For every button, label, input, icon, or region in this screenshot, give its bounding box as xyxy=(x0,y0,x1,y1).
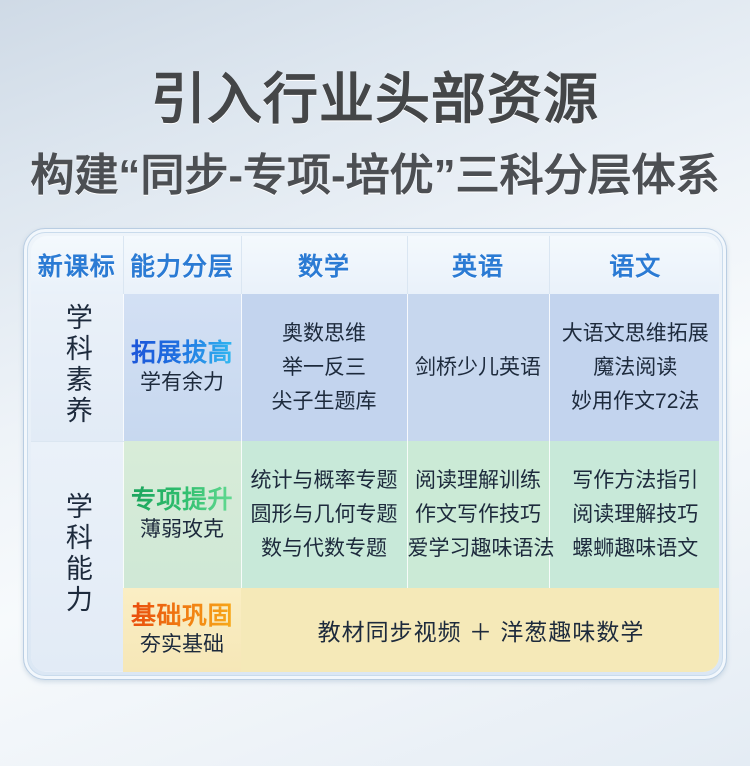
cell-chinese-targeted: 写作方法指引 阅读理解技巧 螺蛳趣味语文 xyxy=(549,441,719,588)
column-header-english: 英语 xyxy=(407,236,549,294)
column-header-chinese: 语文 xyxy=(549,236,719,294)
cell-line: 妙用作文72法 xyxy=(550,385,720,419)
column-header-tier: 能力分层 xyxy=(123,236,241,294)
column-header-math: 数学 xyxy=(241,236,407,294)
cell-line: 统计与概率专题 xyxy=(242,464,407,498)
tier-cell-targeted: 专项提升 薄弱攻克 xyxy=(123,441,241,588)
cell-foundation-merged: 教材同步视频 ＋ 洋葱趣味数学 xyxy=(241,588,719,672)
tier-subtitle-advanced: 学有余力 xyxy=(124,370,241,396)
table-row: 学科能力 专项提升 薄弱攻克 统计与概率专题 圆形与几何专题 数与代数专题 阅读… xyxy=(31,441,719,588)
cell-line: 举一反三 xyxy=(242,351,407,385)
cell-line: 写作方法指引 xyxy=(550,464,720,498)
row-label-ability-text: 学科能力 xyxy=(63,492,91,616)
curriculum-panel-inner: 新课标 能力分层 数学 英语 语文 学科素养 拓展拔高 学有余力 奥数思维 举一… xyxy=(31,236,719,672)
column-header-standard: 新课标 xyxy=(31,236,123,294)
table-row: 基础巩固 夯实基础 教材同步视频 ＋ 洋葱趣味数学 xyxy=(31,588,719,672)
curriculum-panel: 新课标 能力分层 数学 英语 语文 学科素养 拓展拔高 学有余力 奥数思维 举一… xyxy=(23,228,727,680)
cell-line: 尖子生题库 xyxy=(242,385,407,419)
cell-line: 爱学习趣味语法 xyxy=(408,532,549,566)
cell-line: 螺蛳趣味语文 xyxy=(550,532,720,566)
cell-line: 魔法阅读 xyxy=(550,351,720,385)
tier-subtitle-targeted: 薄弱攻克 xyxy=(124,517,241,543)
row-label-literacy-text: 学科素养 xyxy=(63,303,91,427)
tier-cell-advanced: 拓展拔高 学有余力 xyxy=(123,294,241,441)
cell-math-targeted: 统计与概率专题 圆形与几何专题 数与代数专题 xyxy=(241,441,407,588)
table-row: 学科素养 拓展拔高 学有余力 奥数思维 举一反三 尖子生题库 剑桥少儿英语 大语… xyxy=(31,294,719,441)
cell-chinese-advanced: 大语文思维拓展 魔法阅读 妙用作文72法 xyxy=(549,294,719,441)
cell-line: 阅读理解训练 xyxy=(408,464,549,498)
cell-english-targeted: 阅读理解训练 作文写作技巧 爱学习趣味语法 xyxy=(407,441,549,588)
cell-math-advanced: 奥数思维 举一反三 尖子生题库 xyxy=(241,294,407,441)
cell-line: 圆形与几何专题 xyxy=(242,498,407,532)
cell-english-advanced: 剑桥少儿英语 xyxy=(407,294,549,441)
cell-line: 阅读理解技巧 xyxy=(550,498,720,532)
row-label-literacy: 学科素养 xyxy=(31,294,123,441)
headings-block: 引入行业头部资源 构建“同步-专项-培优”三科分层体系 xyxy=(0,0,750,222)
cell-line: 作文写作技巧 xyxy=(408,498,549,532)
cell-line: 剑桥少儿英语 xyxy=(408,351,549,385)
tier-title-foundation: 基础巩固 xyxy=(123,602,241,631)
table-header-row: 新课标 能力分层 数学 英语 语文 xyxy=(31,236,719,294)
page-title: 引入行业头部资源 xyxy=(0,72,750,127)
tier-title-targeted: 专项提升 xyxy=(124,486,241,515)
cell-line: 数与代数专题 xyxy=(242,532,407,566)
row-label-ability: 学科能力 xyxy=(31,441,123,672)
page-subtitle: 构建“同步-专项-培优”三科分层体系 xyxy=(0,154,750,198)
tier-cell-foundation: 基础巩固 夯实基础 xyxy=(123,588,241,672)
cell-line: 奥数思维 xyxy=(242,317,407,351)
cell-line: 大语文思维拓展 xyxy=(550,317,720,351)
tier-subtitle-foundation: 夯实基础 xyxy=(123,632,241,658)
curriculum-table: 新课标 能力分层 数学 英语 语文 学科素养 拓展拔高 学有余力 奥数思维 举一… xyxy=(31,236,719,672)
tier-title-advanced: 拓展拔高 xyxy=(124,339,241,368)
